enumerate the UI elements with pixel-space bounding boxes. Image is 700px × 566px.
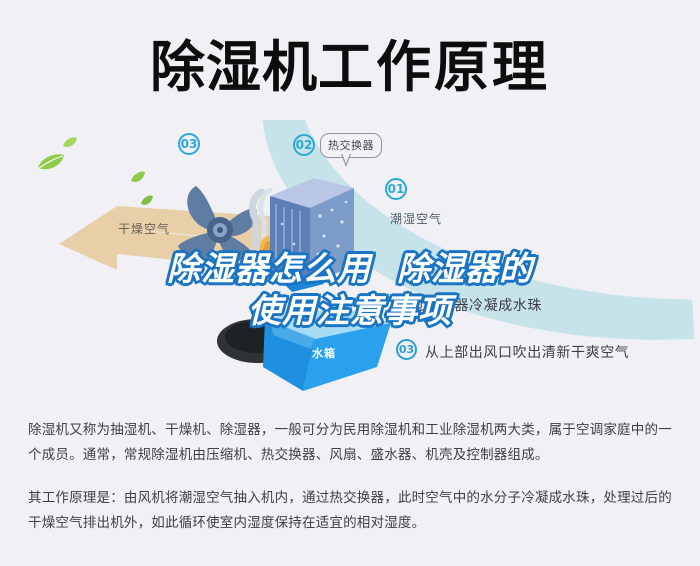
page-root: 除湿机工作原理 [0,0,700,566]
badge-01: 01 [385,178,407,200]
page-title: 除湿机工作原理 [0,22,700,112]
leaf-icon [130,170,146,184]
step-03-description: 从上部出风口吹出清新干爽空气 [425,342,629,362]
body-paragraph-1: 除湿机又称为抽湿机、干燥机、除湿器，一般可分为民用除湿机和工业除湿机两大类，属于… [28,418,676,468]
step-02-description: 经过蒸发器冷凝成水珠 [396,295,542,315]
page-title-part1: 除湿机 [150,35,318,99]
dehumidifier-diagram: 水箱 01 02 03 热交换器 干燥空气 潮湿空气 经过蒸发器冷凝成水珠 03… [0,120,700,400]
body-copy: 除湿机又称为抽湿机、干燥机、除湿器，一般可分为民用除湿机和工业除湿机两大类，属于… [28,418,676,546]
leaf-icon [36,152,66,172]
page-title-part2: 工作原理 [318,35,550,99]
badge-02: 02 [293,134,315,156]
badge-03-dry-air: 03 [178,133,200,155]
label-moist-air: 潮湿空气 [390,210,442,227]
heat-exchanger-icon [262,158,372,293]
badge-03-outlet: 03 [396,339,417,360]
page-title-text: 除湿机工作原理 [150,40,550,95]
water-tank-label: 水箱 [312,345,336,361]
label-dry-air: 干燥空气 [118,220,170,237]
leaf-icon [62,136,78,149]
leaf-icon [140,194,154,207]
callout-tail-icon [341,154,351,167]
heat-exchanger-callout: 热交换器 [320,133,382,158]
body-paragraph-2: 其工作原理是：由风机将潮湿空气抽入机内，通过热交换器，此时空气中的水分子冷凝成水… [28,486,676,536]
